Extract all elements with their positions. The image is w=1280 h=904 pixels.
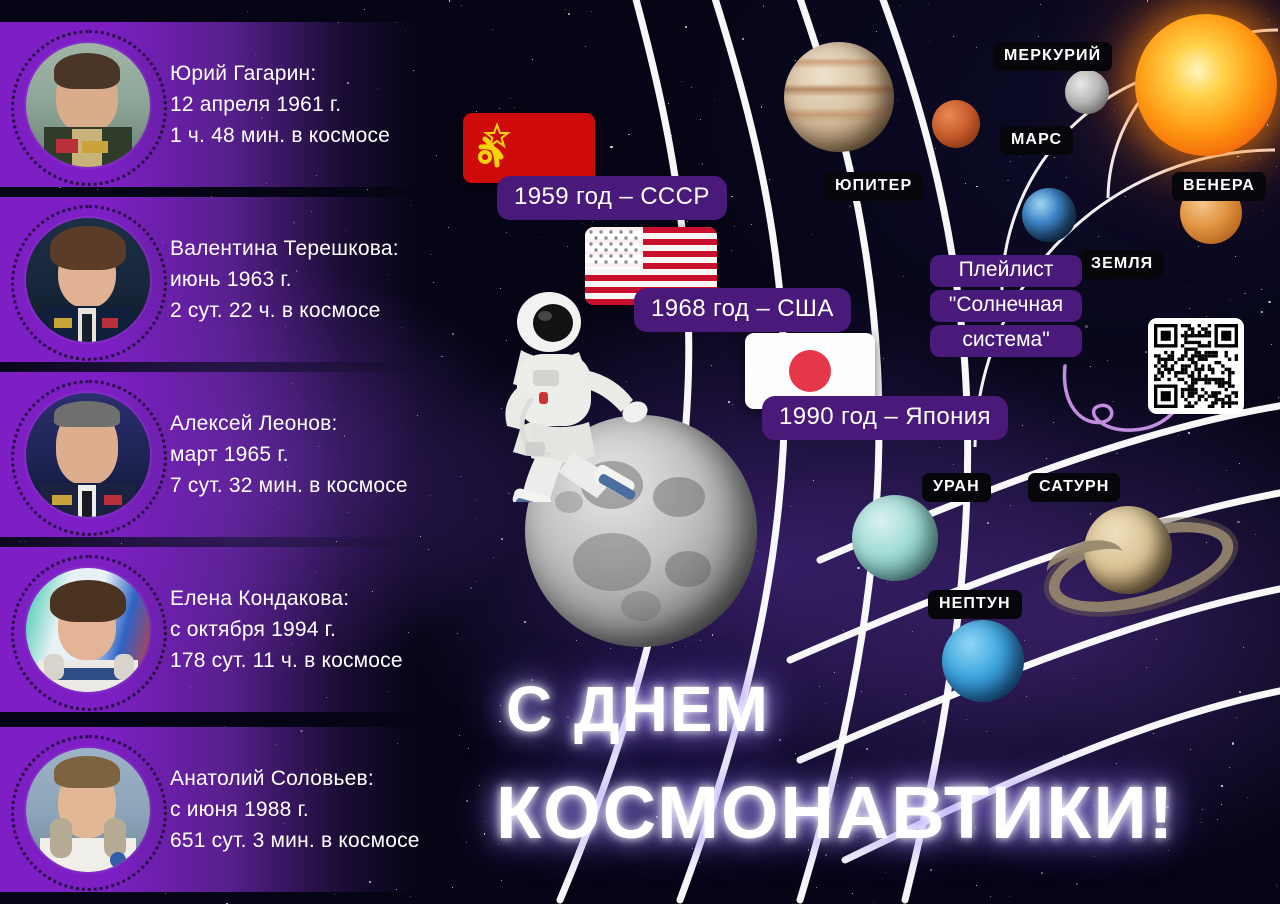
list-item[interactable]: Анатолий Соловьев: с июня 1988 г. 651 су… [0,727,418,892]
jupiter [784,42,894,152]
playlist-line-1: Плейлист [930,255,1082,287]
cosmonaut-date: с июня 1988 г. [170,794,420,825]
cosmonaut-name: Валентина Терешкова: [170,233,399,264]
qr-code[interactable] [1148,318,1244,414]
list-item-text: Валентина Терешкова: июнь 1963 г. 2 сут.… [170,233,399,326]
earth [1022,188,1076,242]
avatar-image [26,218,150,342]
list-item[interactable]: Валентина Терешкова: июнь 1963 г. 2 сут.… [0,197,418,362]
planet-label-venus: ВЕНЕРА [1172,172,1266,201]
cosmonaut-duration: 7 сут. 32 мин. в космосе [170,470,408,501]
planet-label-jupiter: ЮПИТЕР [824,172,923,201]
milestone-badge-ussr[interactable]: 1959 год – СССР [497,176,727,220]
cosmonaut-date: июнь 1963 г. [170,264,399,295]
mars [932,100,980,148]
playlist-callout[interactable]: Плейлист "Солнечная система" [930,255,1082,360]
cosmonaut-name: Елена Кондакова: [170,583,403,614]
headline-line-1: С ДНЕМ [506,672,770,746]
avatar-image [26,748,150,872]
cosmonaut-date: 12 апреля 1961 г. [170,89,390,120]
playlist-line-3: система" [930,325,1082,357]
milestone-badge-usa[interactable]: 1968 год – США [634,288,851,332]
planet-label-saturn: САТУРН [1028,473,1120,502]
avatar-image [26,43,150,167]
avatar-image [26,393,150,517]
cosmonaut-name: Анатолий Соловьев: [170,763,420,794]
sun [1135,14,1277,156]
cosmonaut-duration: 1 ч. 48 мин. в космосе [170,120,390,151]
avatar [20,564,152,696]
planet-label-mars: МАРС [1000,126,1073,155]
avatar [20,744,152,876]
list-item-text: Алексей Леонов: март 1965 г. 7 сут. 32 м… [170,408,408,501]
avatar [20,39,152,171]
list-item-text: Елена Кондакова: с октября 1994 г. 178 с… [170,583,403,676]
saturn [1040,490,1220,620]
cosmonaut-duration: 178 сут. 11 ч. в космосе [170,645,403,676]
cosmonaut-list: Юрий Гагарин: 12 апреля 1961 г. 1 ч. 48 … [0,0,430,904]
planet-label-mercury: МЕРКУРИЙ [993,42,1112,71]
list-item[interactable]: Алексей Леонов: март 1965 г. 7 сут. 32 м… [0,372,418,537]
list-item-text: Анатолий Соловьев: с июня 1988 г. 651 су… [170,763,420,856]
cosmonaut-duration: 2 сут. 22 ч. в космосе [170,295,399,326]
space-day-poster: МЕРКУРИЙ ВЕНЕРА ЗЕМЛЯ МАРС ЮПИТЕР САТУРН… [0,0,1280,904]
cosmonaut-name: Алексей Леонов: [170,408,408,439]
cosmonaut-date: с октября 1994 г. [170,614,403,645]
list-item-text: Юрий Гагарин: 12 апреля 1961 г. 1 ч. 48 … [170,58,390,151]
avatar [20,389,152,521]
avatar-image [26,568,150,692]
ussr-flag [463,113,595,183]
mercury [1065,70,1109,114]
planet-label-earth: ЗЕМЛЯ [1080,250,1164,279]
cosmonaut-duration: 651 сут. 3 мин. в космосе [170,825,420,856]
headline-line-2: КОСМОНАВТИКИ! [496,770,1175,855]
uranus [852,495,938,581]
cosmonaut-name: Юрий Гагарин: [170,58,390,89]
milestone-badge-japan[interactable]: 1990 год – Япония [762,396,1008,440]
planet-label-uranus: УРАН [922,473,991,502]
avatar [20,214,152,346]
list-item[interactable]: Елена Кондакова: с октября 1994 г. 178 с… [0,547,418,712]
planet-label-neptune: НЕПТУН [928,590,1022,619]
neptune [942,620,1024,702]
playlist-line-2: "Солнечная [930,290,1082,322]
cosmonaut-date: март 1965 г. [170,439,408,470]
list-item[interactable]: Юрий Гагарин: 12 апреля 1961 г. 1 ч. 48 … [0,22,418,187]
